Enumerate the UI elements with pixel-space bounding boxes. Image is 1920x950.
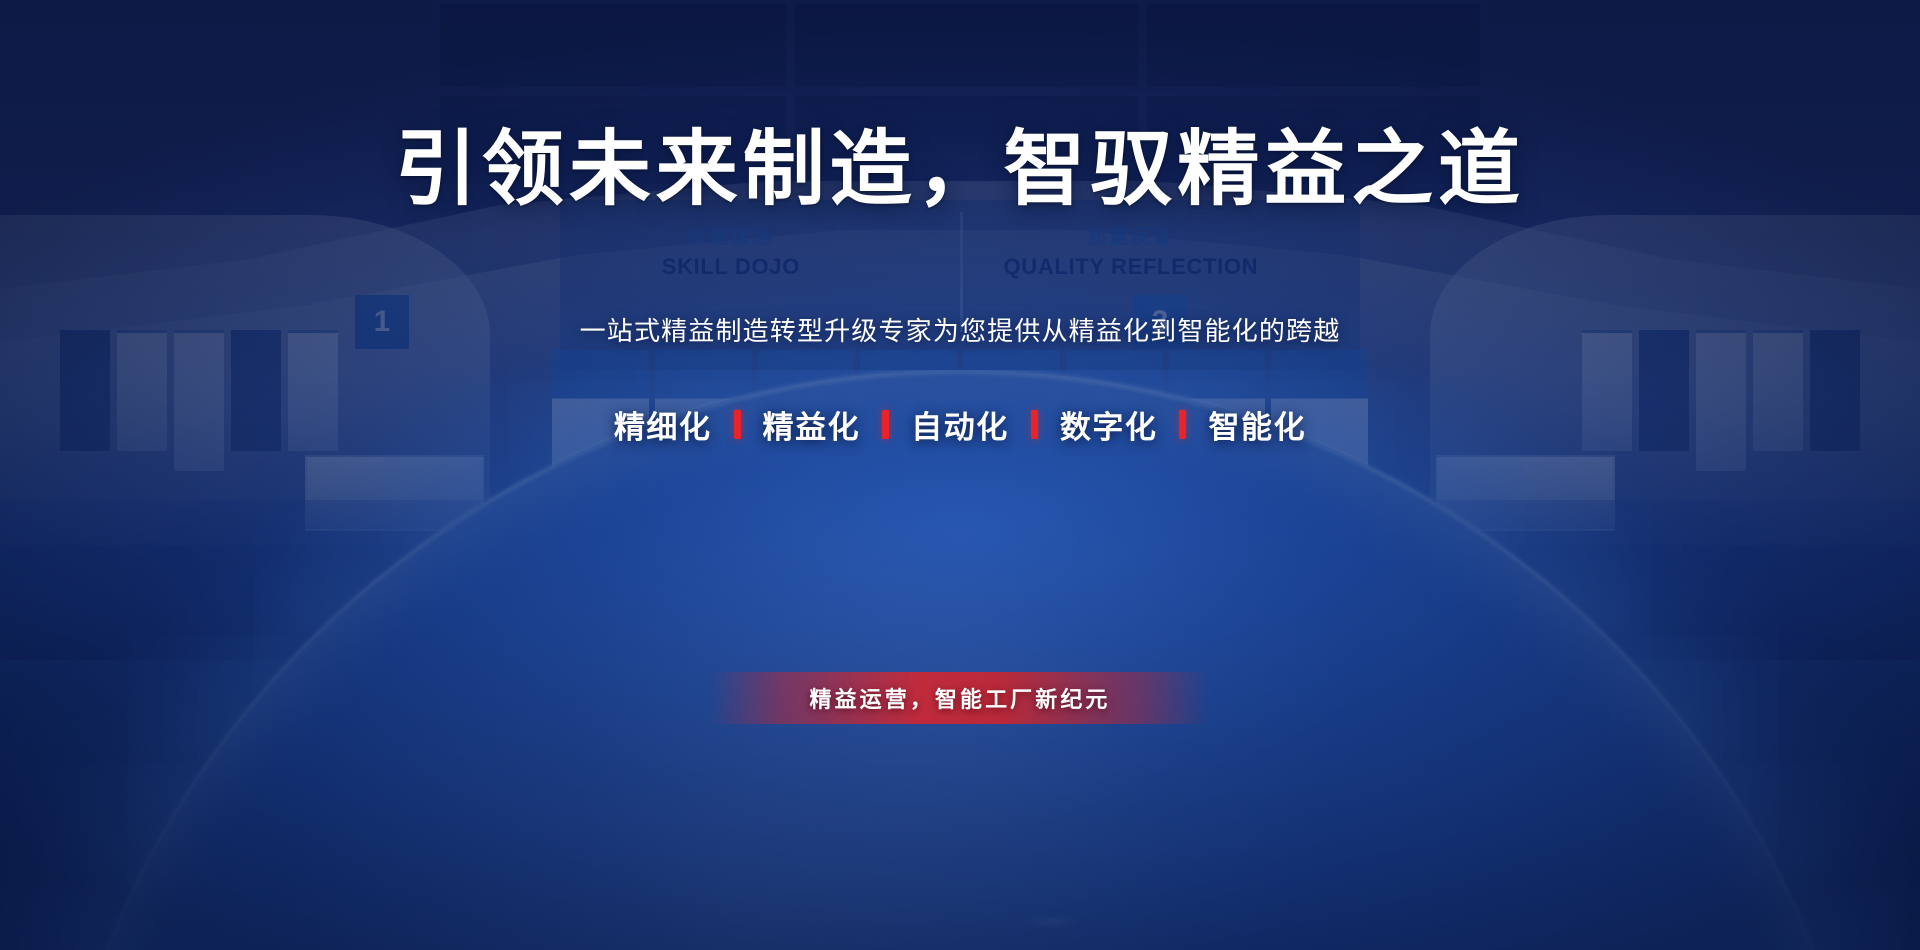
keyword-item: 数字化 (1060, 402, 1158, 447)
keyword-item: 自动化 (911, 402, 1009, 447)
page-title: 引领未来制造，智驭精益之道 (395, 126, 1525, 215)
keyword-separator-icon (1031, 410, 1038, 439)
hero-subtitle: 一站式精益制造转型升级专家为您提供从精益化到智能化的跨越 (580, 311, 1341, 348)
tagline-badge-text: 精益运营，智能工厂新纪元 (810, 682, 1111, 714)
hero-banner: 技能道场 SKILL DOJO 质量反省 QUALITY REFLECTION … (0, 0, 1920, 950)
keyword-item: 智能化 (1208, 402, 1306, 447)
hero-content: 引领未来制造，智驭精益之道 一站式精益制造转型升级专家为您提供从精益化到智能化的… (0, 0, 1920, 950)
tagline-badge: 精益运营，智能工厂新纪元 (710, 672, 1210, 724)
keyword-separator-icon (734, 410, 741, 439)
keyword-separator-icon (882, 410, 889, 439)
keyword-separator-icon (1179, 410, 1186, 439)
keyword-list: 精细化 精益化 自动化 数字化 智能化 (614, 402, 1306, 447)
keyword-item: 精细化 (614, 402, 712, 447)
keyword-item: 精益化 (763, 402, 861, 447)
